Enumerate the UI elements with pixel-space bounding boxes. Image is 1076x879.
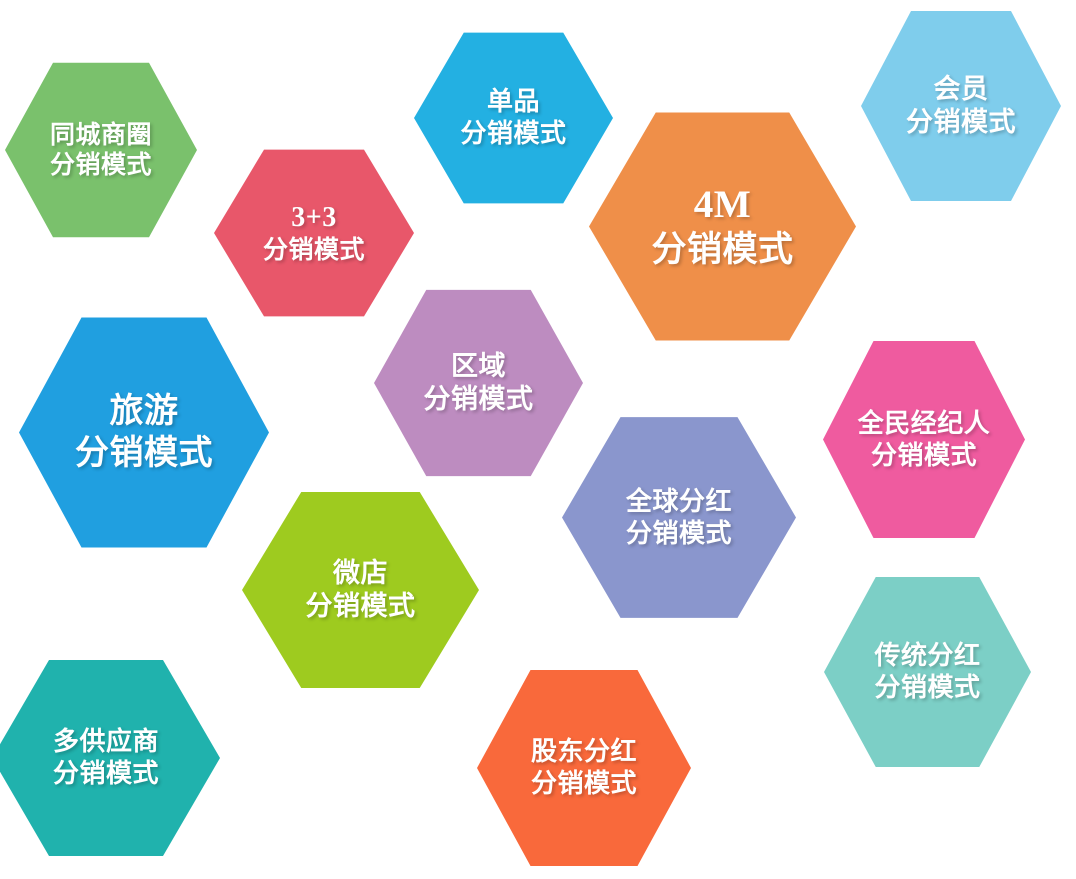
hexagon-label-primary: 全民经纪人 <box>858 408 991 440</box>
hexagon-label-primary: 4M <box>694 181 752 229</box>
hexagon-danpin[interactable]: 单品分销模式 <box>414 30 613 206</box>
hexagon-label-secondary: 分销模式 <box>460 118 566 150</box>
hexagon-lvyou[interactable]: 旅游分销模式 <box>19 314 269 551</box>
hexagon-label-secondary: 分销模式 <box>53 758 159 790</box>
hexagon-san-jia-san[interactable]: 3+3分销模式 <box>214 147 414 319</box>
hexagon-huiyuan[interactable]: 会员分销模式 <box>861 8 1061 204</box>
hexagon-label-primary: 同城商圈 <box>50 120 152 151</box>
hexagon-quyu[interactable]: 区域分销模式 <box>374 287 583 479</box>
hexagon-label-primary: 3+3 <box>291 201 336 235</box>
hexagon-label-secondary: 分销模式 <box>874 672 980 704</box>
hexagon-quanmin-jingjiren[interactable]: 全民经纪人分销模式 <box>823 338 1025 541</box>
hexagon-label-primary: 全球分红 <box>626 486 732 518</box>
hexagon-label-primary: 微店 <box>333 557 388 590</box>
hexagon-tongcheng-shangquan[interactable]: 同城商圈分销模式 <box>5 60 197 240</box>
hexagon-label-secondary: 分销模式 <box>871 440 977 472</box>
hexagon-label-primary: 传统分红 <box>874 640 980 672</box>
hexagon-label-secondary: 分销模式 <box>626 518 732 550</box>
hexagon-quanqiu-fenhong[interactable]: 全球分红分销模式 <box>562 414 796 621</box>
hexagon-diagram-canvas: 同城商圈分销模式单品分销模式会员分销模式3+3分销模式4M分销模式区域分销模式旅… <box>0 0 1076 879</box>
hexagon-label-primary: 股东分红 <box>531 736 637 768</box>
hexagon-label-secondary: 分销模式 <box>651 229 793 272</box>
hexagon-label-secondary: 分销模式 <box>531 768 637 800</box>
hexagon-siM[interactable]: 4M分销模式 <box>589 109 856 344</box>
hexagon-label-primary: 会员 <box>934 73 989 106</box>
hexagon-label-primary: 旅游 <box>110 391 179 432</box>
hexagon-chuantong-fenhong[interactable]: 传统分红分销模式 <box>824 574 1031 770</box>
hexagon-label-secondary: 分销模式 <box>306 590 416 623</box>
hexagon-label-secondary: 分销模式 <box>906 106 1016 139</box>
hexagon-label-secondary: 分销模式 <box>424 383 534 416</box>
hexagon-duo-gongyingshang[interactable]: 多供应商分销模式 <box>0 657 220 859</box>
hexagon-label-secondary: 分销模式 <box>75 433 213 474</box>
hexagon-label-primary: 多供应商 <box>53 726 159 758</box>
hexagon-label-secondary: 分销模式 <box>50 150 152 181</box>
hexagon-label-secondary: 分销模式 <box>263 235 365 266</box>
hexagon-label-primary: 单品 <box>487 86 540 118</box>
hexagon-gudong-fenhong[interactable]: 股东分红分销模式 <box>477 667 691 869</box>
hexagon-weidian[interactable]: 微店分销模式 <box>242 489 479 691</box>
hexagon-label-primary: 区域 <box>451 350 506 383</box>
